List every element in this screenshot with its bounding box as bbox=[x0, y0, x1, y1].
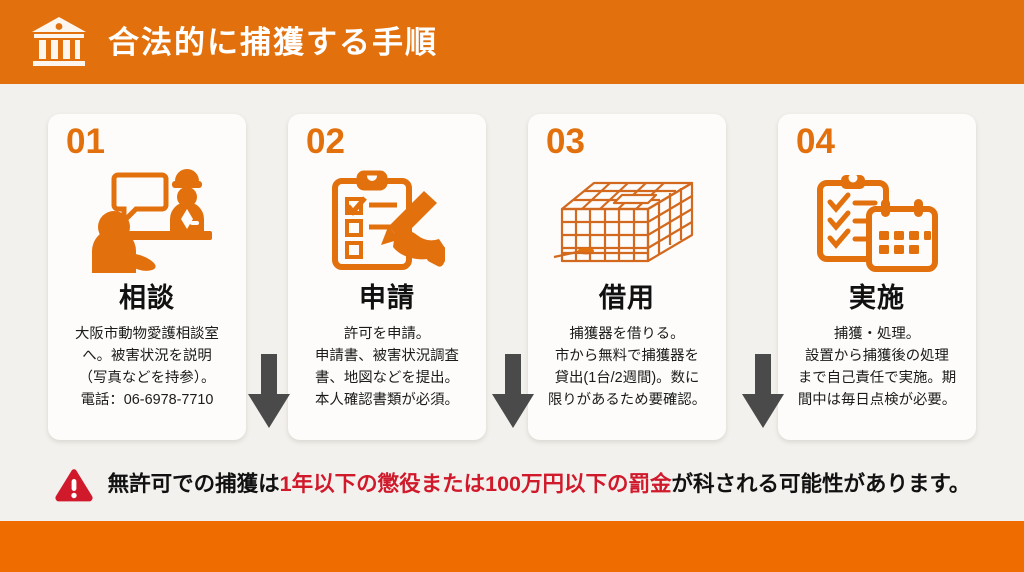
step-title: 借用 bbox=[528, 284, 726, 314]
bottom-accent-bar bbox=[0, 521, 1024, 572]
step-card-04[interactable]: 04 bbox=[778, 114, 976, 440]
step-body-line: へ。被害状況を説明 bbox=[54, 346, 240, 368]
warning-text-before: 無許可での捕獲は bbox=[108, 472, 280, 496]
page-title: 合法的に捕獲する手順 bbox=[108, 27, 438, 58]
step-title: 実施 bbox=[778, 284, 976, 314]
infographic-page: 合法的に捕獲する手順 01 bbox=[0, 0, 1024, 572]
warning-triangle-icon bbox=[54, 467, 94, 503]
arrow-down-icon bbox=[490, 354, 536, 430]
step-body: 許可を申請。 申請書、被害状況調査 書、地図などを提出。 本人確認書類が必須。 bbox=[294, 324, 480, 412]
arrow-down-icon bbox=[740, 354, 786, 430]
step-title: 申請 bbox=[288, 284, 486, 314]
step-body-line: 書、地図などを提出。 bbox=[294, 368, 480, 390]
step-number: 04 bbox=[796, 124, 835, 159]
step-icon-wrap bbox=[288, 166, 486, 276]
step-body-line: 捕獲・処理。 bbox=[784, 324, 970, 346]
step-body-line: （写真などを持参）。 bbox=[54, 368, 240, 390]
step-card-01[interactable]: 01 bbox=[48, 114, 246, 440]
step-body-line: 電話：06-6978-7710 bbox=[54, 390, 240, 412]
warning-text-highlight: 1年以下の懲役または100万円以下の罰金 bbox=[280, 472, 672, 496]
step-card-03[interactable]: 03 bbox=[528, 114, 726, 440]
warning-banner: 無許可での捕獲は1年以下の懲役または100万円以下の罰金が科される可能性がありま… bbox=[0, 452, 1024, 518]
consultation-counter-icon bbox=[82, 169, 212, 273]
arrow-down-icon bbox=[246, 354, 292, 430]
cage-trap-icon bbox=[552, 169, 702, 273]
step-icon-wrap bbox=[778, 166, 976, 276]
bank-building-icon bbox=[30, 15, 88, 69]
step-body-line: 間中は毎日点検が必要。 bbox=[784, 390, 970, 412]
step-card-02[interactable]: 02 bbox=[288, 114, 486, 440]
step-body: 大阪市動物愛護相談室 へ。被害状況を説明 （写真などを持参）。 電話：06-69… bbox=[54, 324, 240, 412]
step-body: 捕獲器を借りる。 市から無料で捕獲器を 貸出(1台/2週間)。数に 限りがあるた… bbox=[534, 324, 720, 412]
step-icon-wrap bbox=[528, 166, 726, 276]
step-body-line: 許可を申請。 bbox=[294, 324, 480, 346]
step-number: 03 bbox=[546, 124, 585, 159]
step-body-line: 設置から捕獲後の処理 bbox=[784, 346, 970, 368]
step-number: 01 bbox=[66, 124, 105, 159]
warning-text: 無許可での捕獲は1年以下の懲役または100万円以下の罰金が科される可能性がありま… bbox=[108, 474, 971, 496]
steps-row: 01 bbox=[0, 114, 1024, 440]
step-body-line: 限りがあるため要確認。 bbox=[534, 390, 720, 412]
warning-text-after: が科される可能性があります。 bbox=[672, 472, 971, 496]
clipboard-calendar-icon bbox=[815, 169, 939, 273]
step-body-line: 捕獲器を借りる。 bbox=[534, 324, 720, 346]
clipboard-pen-icon bbox=[329, 169, 445, 273]
step-body-line: 貸出(1台/2週間)。数に bbox=[534, 368, 720, 390]
step-body: 捕獲・処理。 設置から捕獲後の処理 まで自己責任で実施。期 間中は毎日点検が必要… bbox=[784, 324, 970, 412]
page-header: 合法的に捕獲する手順 bbox=[0, 0, 1024, 84]
step-body-line: まで自己責任で実施。期 bbox=[784, 368, 970, 390]
step-icon-wrap bbox=[48, 166, 246, 276]
step-body-line: 本人確認書類が必須。 bbox=[294, 390, 480, 412]
step-body-line: 市から無料で捕獲器を bbox=[534, 346, 720, 368]
step-body-line: 申請書、被害状況調査 bbox=[294, 346, 480, 368]
step-body-line: 大阪市動物愛護相談室 bbox=[54, 324, 240, 346]
step-number: 02 bbox=[306, 124, 345, 159]
step-title: 相談 bbox=[48, 284, 246, 314]
